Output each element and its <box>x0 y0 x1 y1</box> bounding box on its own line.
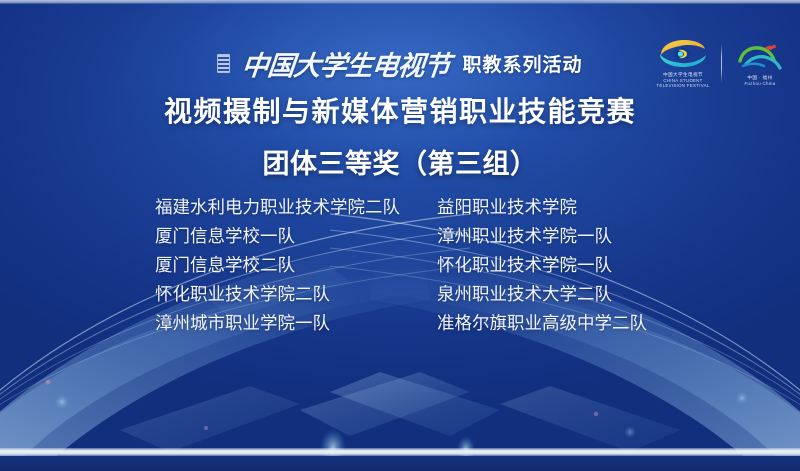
top-edge-strip <box>0 0 800 4</box>
brand-subtitle: 职教系列活动 <box>462 50 582 77</box>
award-title: 团体三等奖（第三组） <box>0 142 800 181</box>
list-item: 怀化职业技术学院二队 <box>155 280 437 309</box>
award-slide: 中国大学生电视节 职教系列活动 <box>0 0 800 471</box>
list-item: 福建水利电力职业技术学院二队 <box>155 193 437 222</box>
logo-fuzhou-name-en-1: Fuzhou China <box>745 81 776 87</box>
list-item: 怀化职业技术学院一队 <box>437 251 655 280</box>
fuzhou-china-logo-icon <box>734 39 786 73</box>
list-item: 泉州职业技术大学二队 <box>437 280 655 309</box>
list-item: 厦门信息学校一队 <box>155 222 437 251</box>
bottom-light-band <box>0 448 800 456</box>
bottom-dark-band <box>0 456 800 471</box>
list-item: 厦门信息学校二队 <box>155 251 437 280</box>
logo-divider <box>721 43 722 83</box>
list-item: 漳州职业技术学院一队 <box>437 222 655 251</box>
list-item: 准格尔旗职业高级中学二队 <box>437 309 655 338</box>
china-student-television-festival-logo-icon <box>657 36 709 70</box>
list-item: 漳州城市职业学院一队 <box>155 309 437 338</box>
logo-cstf: 中国大学生电视节 CHINA STUDENT TELEVISION FESTIV… <box>655 36 711 89</box>
film-strip-seal-icon <box>217 54 230 73</box>
winners-list: 福建水利电力职业技术学院二队 益阳职业技术学院 厦门信息学校一队 漳州职业技术学… <box>155 193 655 338</box>
brand-calligraphy-title: 中国大学生电视节 <box>240 44 452 83</box>
logo-group: 中国大学生电视节 CHINA STUDENT TELEVISION FESTIV… <box>655 36 788 89</box>
list-item: 益阳职业技术学院 <box>437 193 655 222</box>
page-title: 视频摄制与新媒体营销职业技能竞赛 <box>0 90 800 130</box>
logo-cstf-name-en-2: TELEVISION FESTIVAL <box>656 83 709 89</box>
logo-fuzhou: 中国 · 福州 Fuzhou China <box>732 39 788 86</box>
